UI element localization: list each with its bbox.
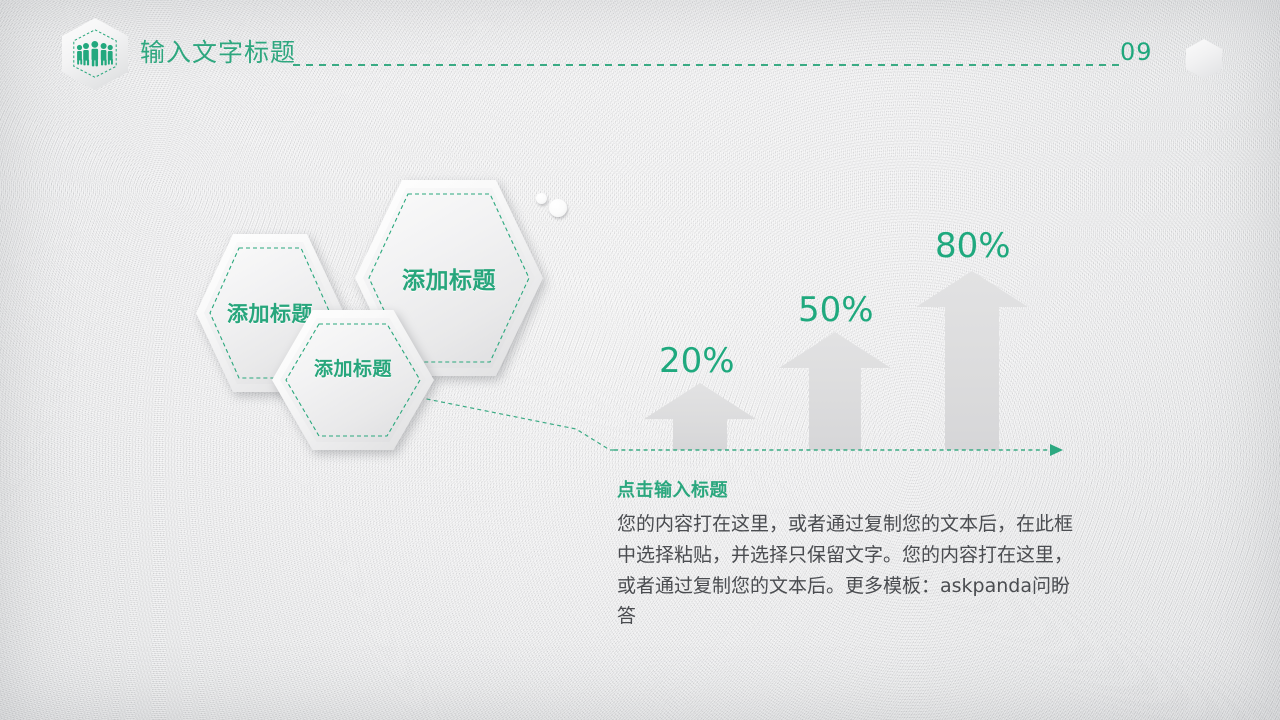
bubble-icon	[549, 199, 567, 217]
content-body: 您的内容打在这里，或者通过复制您的文本后，在此框中选择粘贴，并选择只保留文字。您…	[617, 509, 1087, 632]
hexagon-card-3[interactable]: 添加标题	[272, 310, 434, 450]
people-group-icon	[75, 41, 115, 67]
hexagon-card-3-label: 添加标题	[272, 310, 434, 450]
baseline-axis-arrow	[614, 444, 1063, 456]
content-text-block: 点击输入标题 您的内容打在这里，或者通过复制您的文本后，在此框中选择粘贴，并选择…	[617, 476, 1087, 632]
header-badge-hexagon	[62, 18, 128, 90]
slide-canvas: 输入文字标题 09 20% 50% 80%	[0, 0, 1280, 720]
content-heading: 点击输入标题	[617, 476, 1087, 502]
